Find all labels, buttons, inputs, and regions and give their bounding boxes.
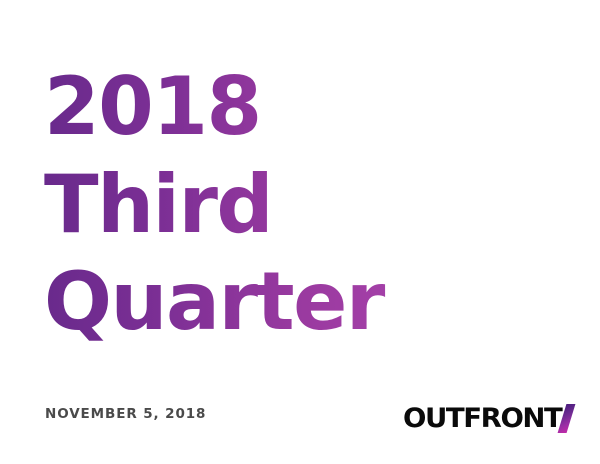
- title-line-quarter: Quarter: [44, 253, 464, 351]
- outfront-logo: OUTFRONT: [403, 398, 576, 432]
- presentation-date: NOVEMBER 5, 2018: [45, 406, 206, 422]
- slide-footer: NOVEMBER 5, 2018 OUTFRONT: [0, 386, 600, 464]
- slide-title-block: 2018 Third Quarter: [44, 58, 464, 351]
- title-line-year: 2018: [44, 58, 464, 156]
- title-line-third: Third: [44, 156, 464, 254]
- outfront-slash-bar: [558, 404, 576, 433]
- outfront-slash-icon: [559, 404, 576, 433]
- outfront-wordmark: OUTFRONT: [403, 405, 561, 432]
- presentation-slide: 2018 Third Quarter NOVEMBER 5, 2018 OUTF…: [0, 0, 600, 464]
